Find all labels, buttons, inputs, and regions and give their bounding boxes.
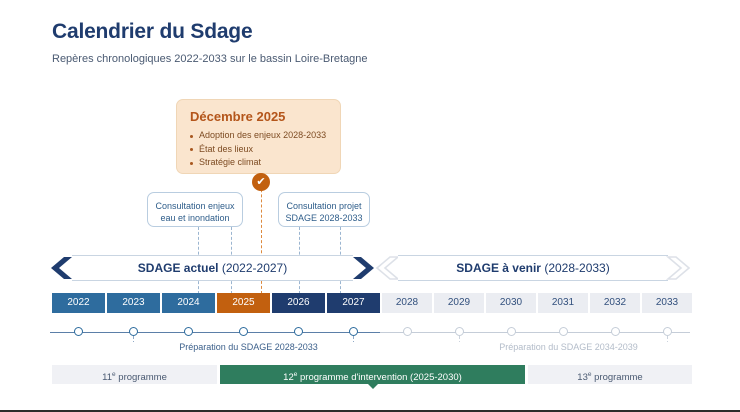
programme-ordinal: 11 [102,372,112,383]
axis-dot-2031 [559,327,568,336]
year-chip-2029[interactable]: 2029 [434,293,484,313]
page-title: Calendrier du Sdage [52,20,252,44]
banner-label: SDAGE à venir (2028-2033) [398,255,668,281]
chevron-left-icon [50,256,74,280]
axis-dot-2022 [74,327,83,336]
banner-strong-text: SDAGE à venir [456,261,541,275]
chevron-right-icon [666,256,690,280]
programme-ordinal: 12 [283,372,294,383]
programme-text: programme [591,372,642,383]
callout-title: Décembre 2025 [190,109,328,124]
programme-text: programme d'intervention (2025-2030) [297,372,461,383]
year-chip-2024[interactable]: 2024 [162,293,215,313]
banner-years-text: (2022-2027) [222,261,287,275]
programme-segment-11[interactable]: 11e programme [52,365,217,384]
year-chip-2028[interactable]: 2028 [382,293,432,313]
banner-sdage-a-venir: SDAGE à venir (2028-2033) [376,255,690,281]
axis-dot-2025 [239,327,248,336]
timeline-axis-future [380,332,690,333]
consultation-line-1: Consultation projet [279,200,369,212]
axis-dot-2024 [184,327,193,336]
check-icon: ✔ [252,173,270,191]
consultation-line-2: eau et inondation [148,212,242,224]
banner-years-text: (2028-2033) [544,261,609,275]
consultation-box-projet[interactable]: Consultation projet SDAGE 2028-2033 [278,192,370,227]
year-chip-2023[interactable]: 2023 [107,293,160,313]
page-subtitle: Repères chronologiques 2022-2033 sur le … [52,53,368,65]
consultation-line-2: SDAGE 2028-2033 [279,212,369,224]
axis-dot-2033 [663,327,672,336]
callout-bullet: Adoption des enjeux 2028-2033 [190,129,328,143]
axis-dot-2026 [294,327,303,336]
year-chip-2025[interactable]: 2025 [217,293,270,313]
axis-dot-2027 [349,327,358,336]
preparation-label-2028-2033: Préparation du SDAGE 2028-2033 [133,342,364,352]
programme-notch-icon [368,384,378,389]
programme-segment-12[interactable]: 12e programme d'intervention (2025-2030) [220,365,525,384]
year-chip-2033[interactable]: 2033 [642,293,692,313]
axis-dot-2029 [455,327,464,336]
callout-bullet: Stratégie climat [190,156,328,170]
year-chip-2030[interactable]: 2030 [486,293,536,313]
axis-dot-2032 [611,327,620,336]
infographic-canvas: Calendrier du Sdage Repères chronologiqu… [0,0,740,412]
chevron-right-icon [351,256,375,280]
banner-label: SDAGE actuel (2022-2027) [72,255,353,281]
year-chip-2027[interactable]: 2027 [327,293,380,313]
axis-dot-2030 [507,327,516,336]
year-chip-2032[interactable]: 2032 [590,293,640,313]
programme-text: programme [116,372,167,383]
preparation-label-2034-2039: Préparation du SDAGE 2034-2039 [459,342,678,352]
consultation-box-enjeux[interactable]: Consultation enjeux eau et inondation [147,192,243,227]
axis-dot-2023 [129,327,138,336]
year-chip-2031[interactable]: 2031 [538,293,588,313]
year-chip-2026[interactable]: 2026 [272,293,325,313]
axis-dot-2028 [403,327,412,336]
banner-sdage-actuel: SDAGE actuel (2022-2027) [50,255,375,281]
year-chip-2022[interactable]: 2022 [52,293,105,313]
programme-ordinal: 13 [577,372,588,383]
programme-segment-13[interactable]: 13e programme [528,365,692,384]
timeline-axis-current [50,332,380,333]
chevron-left-icon [376,256,400,280]
consultation-line-1: Consultation enjeux [148,200,242,212]
banner-strong-text: SDAGE actuel [138,261,219,275]
callout-bullet-list: Adoption des enjeux 2028-2033 État des l… [190,129,328,170]
callout-bullet: État des lieux [190,143,328,157]
milestone-callout: Décembre 2025 Adoption des enjeux 2028-2… [176,99,341,174]
